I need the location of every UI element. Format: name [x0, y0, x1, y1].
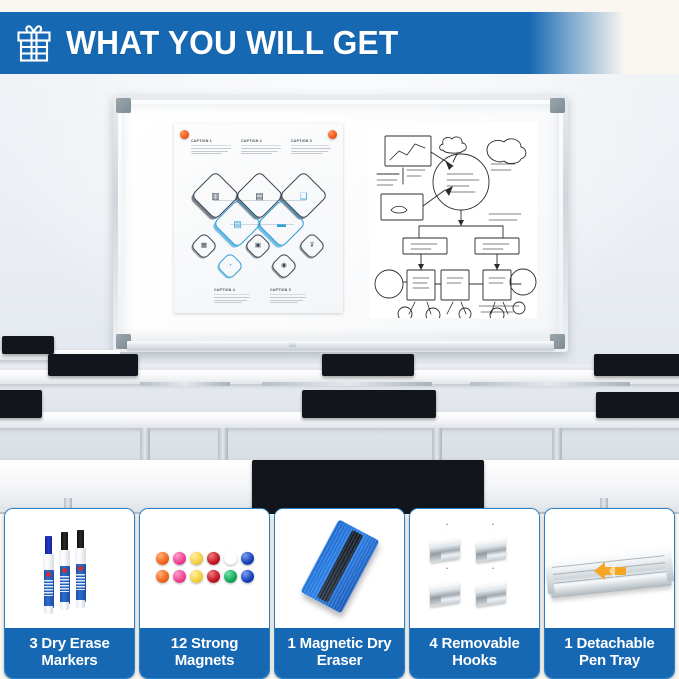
- magnet: [207, 552, 220, 565]
- chair: [0, 390, 42, 418]
- briefcase-icon: ▣: [253, 242, 263, 250]
- card-icon: ▬: [275, 218, 289, 230]
- caption-rule: [214, 294, 250, 295]
- card-label-line1: 3 Dry Erase: [7, 635, 132, 652]
- hooks-image: [410, 509, 539, 628]
- card-label-line1: 1 Detachable: [547, 635, 672, 652]
- chat-bubble-icon: ❑: [297, 190, 311, 202]
- marker-collar: [75, 548, 86, 566]
- tray-end-cap: [664, 550, 674, 583]
- whiteboard: CAPTION 1 CAPTION 2 CAPTION 3 ▥: [113, 95, 568, 352]
- card-label-line1: 4 Removable: [412, 635, 537, 652]
- marker-label: [60, 576, 69, 592]
- poster-caption: CAPTION 4: [214, 288, 235, 292]
- chair: [322, 354, 414, 376]
- card-label-line1: 1 Magnetic Dry: [277, 635, 402, 652]
- rail-clip: [289, 342, 296, 347]
- feature-card-magnets[interactable]: 12 Strong Magnets: [139, 508, 270, 679]
- marker-end: [76, 600, 85, 608]
- poster-tile-small: ◉: [270, 252, 298, 280]
- eraser-image: [275, 509, 404, 628]
- desk-frame: [262, 382, 432, 386]
- markers-image: [5, 509, 134, 628]
- marker: [75, 530, 86, 608]
- magnet: [173, 552, 186, 565]
- document-icon: ▤: [231, 218, 245, 230]
- feature-card-pen-tray[interactable]: 1 Detachable Pen Tray: [544, 508, 675, 679]
- poster-magnet: [180, 130, 189, 139]
- card-label-line2: Magnets: [142, 652, 267, 669]
- hook-lip: [430, 552, 441, 563]
- marker: [59, 532, 70, 610]
- card-label-magnets: 12 Strong Magnets: [140, 628, 269, 679]
- card-label-eraser: 1 Magnetic Dry Eraser: [275, 628, 404, 679]
- magnet: [173, 570, 186, 583]
- card-label-pen-tray: 1 Detachable Pen Tray: [545, 628, 674, 679]
- marker-tip: [77, 530, 84, 550]
- id-card-icon: ▤: [253, 190, 267, 202]
- direction-arrow-icon: [593, 560, 627, 582]
- desk-leg: [552, 428, 562, 464]
- hook: [476, 523, 506, 563]
- chair: [302, 390, 436, 418]
- poster-tile-small: ◔: [216, 252, 244, 280]
- caption-rule: [291, 145, 329, 146]
- caption-rule: [241, 145, 281, 146]
- card-label-line2: Hooks: [412, 652, 537, 669]
- magnets-image: [140, 509, 269, 628]
- magnet: [224, 570, 237, 583]
- marker-collar: [59, 550, 70, 568]
- magnetic-eraser: [300, 520, 379, 614]
- hook-lip: [476, 596, 487, 607]
- desk-leg: [432, 428, 442, 464]
- marker-end: [60, 602, 69, 610]
- chair: [2, 336, 54, 354]
- card-label-line2: Pen Tray: [547, 652, 672, 669]
- poster-caption: CAPTION 1: [191, 139, 212, 143]
- chair: [252, 460, 484, 514]
- chair: [48, 354, 138, 376]
- frame-corner-cap: [550, 98, 565, 113]
- caption-text-lines: [291, 148, 331, 156]
- marker-label: [44, 580, 53, 596]
- marker: [43, 536, 54, 614]
- desk-frame: [140, 382, 230, 386]
- classroom-scene: CAPTION 1 CAPTION 2 CAPTION 3 ▥: [0, 74, 679, 514]
- card-label-hooks: 4 Removable Hooks: [410, 628, 539, 679]
- card-label-line1: 12 Strong: [142, 635, 267, 652]
- infographic-poster: CAPTION 1 CAPTION 2 CAPTION 3 ▥: [174, 124, 343, 313]
- poster-magnet: [328, 130, 337, 139]
- currency-icon: ₮: [307, 242, 317, 250]
- whiteboard-surface: CAPTION 1 CAPTION 2 CAPTION 3 ▥: [122, 104, 559, 338]
- caption-rule: [191, 145, 231, 146]
- desk-leg: [140, 428, 150, 464]
- marker-logo: [78, 566, 83, 571]
- feature-card-markers[interactable]: 3 Dry Erase Markers: [4, 508, 135, 679]
- magnet: [190, 570, 203, 583]
- magnet-grid: [156, 552, 254, 583]
- hook-lip: [476, 552, 487, 563]
- poster-caption: CAPTION 2: [241, 139, 262, 143]
- poster-caption: CAPTION 3: [291, 139, 312, 143]
- marker-end: [44, 606, 53, 614]
- marker-collar: [43, 554, 54, 572]
- pen-tray-image: [545, 509, 674, 628]
- hook-lip: [430, 596, 441, 607]
- desk-frame: [470, 382, 630, 386]
- header-title: WHAT YOU WILL GET: [66, 24, 398, 62]
- header-content: WHAT YOU WILL GET: [0, 12, 679, 74]
- chair: [596, 392, 679, 418]
- card-label-line2: Eraser: [277, 652, 402, 669]
- marker-label: [76, 574, 85, 590]
- hook: [430, 523, 460, 563]
- caption-text-lines: [270, 297, 306, 305]
- marker-tip: [45, 536, 52, 556]
- board-pen-rail: [127, 341, 554, 350]
- magnet: [156, 552, 169, 565]
- hook: [476, 567, 506, 607]
- caption-text-lines: [214, 297, 250, 305]
- chair: [594, 354, 679, 376]
- frame-corner-cap: [116, 98, 131, 113]
- card-label-line2: Markers: [7, 652, 132, 669]
- magnet: [224, 552, 237, 565]
- gift-box-icon: [14, 22, 54, 64]
- feature-card-hooks[interactable]: 4 Removable Hooks: [409, 508, 540, 679]
- target-icon: ◉: [279, 262, 289, 270]
- card-label-markers: 3 Dry Erase Markers: [5, 628, 134, 679]
- caption-text-lines: [241, 148, 281, 156]
- marker-logo: [62, 568, 67, 573]
- pie-chart-icon: ◔: [225, 262, 235, 270]
- magnet: [241, 552, 254, 565]
- poster-tile-small: ▦: [190, 232, 218, 260]
- hook: [430, 567, 460, 607]
- caption-rule: [270, 294, 306, 295]
- poster-caption: CAPTION 5: [270, 288, 291, 292]
- magnet: [190, 552, 203, 565]
- sketch-svg: [369, 122, 537, 318]
- magnet: [207, 570, 220, 583]
- marker-tip: [61, 532, 68, 552]
- product-infographic: WHAT YOU WILL GET CAPTION 1 CAPTION 2: [0, 0, 679, 679]
- marker-logo: [46, 572, 51, 577]
- caption-text-lines: [191, 148, 231, 156]
- feature-cards: 3 Dry Erase Markers: [0, 508, 679, 679]
- desk-leg: [218, 428, 228, 464]
- network-icon: ▦: [199, 242, 209, 250]
- magnet: [156, 570, 169, 583]
- chart-icon: ▥: [209, 190, 223, 202]
- hand-drawn-diagram: [369, 122, 537, 318]
- feature-card-eraser[interactable]: 1 Magnetic Dry Eraser: [274, 508, 405, 679]
- magnet: [241, 570, 254, 583]
- poster-tile-small: ₮: [298, 232, 326, 260]
